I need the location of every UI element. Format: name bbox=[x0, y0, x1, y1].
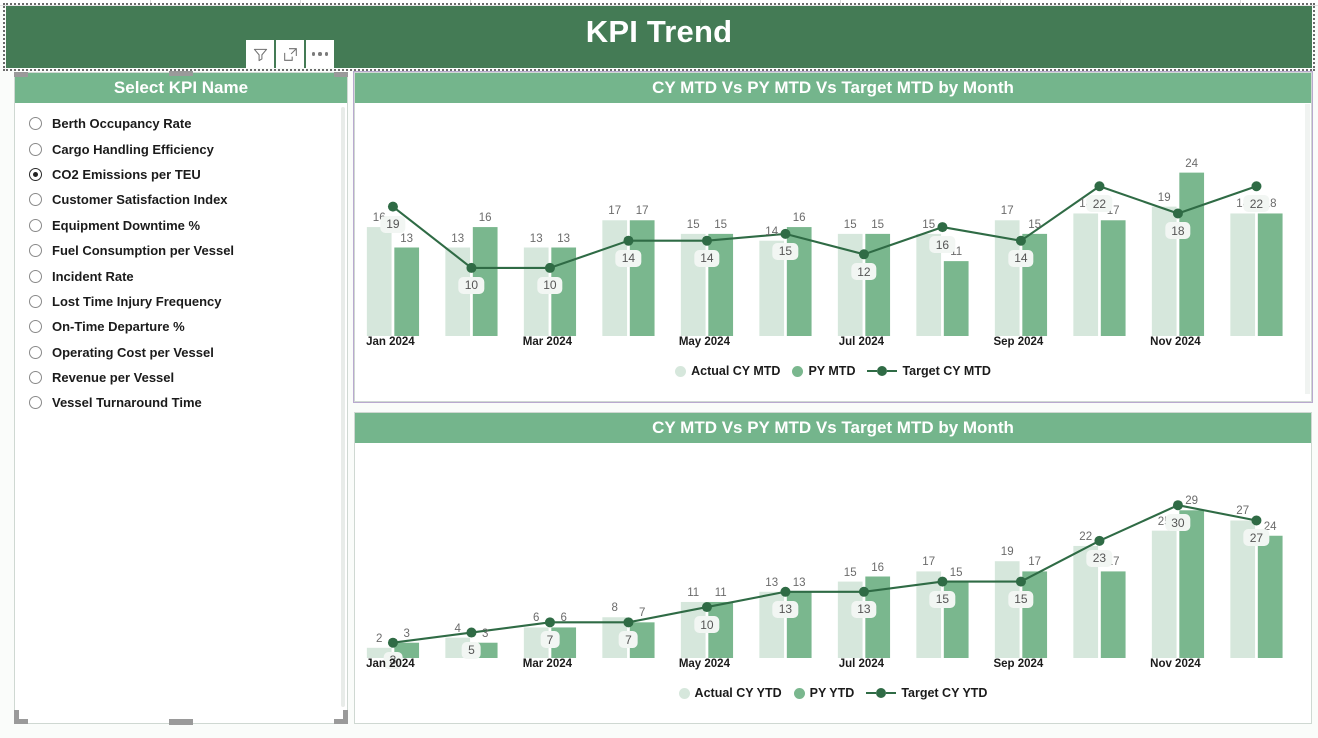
line-value-label: 23 bbox=[1087, 550, 1112, 567]
bar-value-label: 17 bbox=[1001, 205, 1014, 217]
kpi-slicer[interactable]: Select KPI Name Berth Occupancy RateCarg… bbox=[14, 72, 348, 724]
chart-svg bbox=[355, 443, 1311, 680]
bar-value-label: 15 bbox=[687, 219, 700, 231]
line-value-label: 15 bbox=[930, 591, 955, 608]
line-value-label: 14 bbox=[1008, 250, 1033, 267]
bar-value-label: 4 bbox=[455, 623, 461, 635]
bar-value-label: 8 bbox=[612, 602, 618, 614]
legend-label: PY YTD bbox=[810, 686, 855, 700]
slicer-title: Select KPI Name bbox=[15, 73, 347, 103]
slicer-resize-handle-top-right[interactable] bbox=[334, 72, 348, 77]
slicer-item[interactable]: Operating Cost per Vessel bbox=[29, 340, 347, 365]
slicer-item-label: Fuel Consumption per Vessel bbox=[52, 243, 234, 258]
filter-icon[interactable] bbox=[246, 40, 274, 68]
legend-item[interactable]: Actual CY YTD bbox=[679, 686, 782, 700]
bar-value-label: 27 bbox=[1236, 505, 1249, 517]
slicer-option-list[interactable]: Berth Occupancy RateCargo Handling Effic… bbox=[15, 103, 347, 416]
legend-item[interactable]: Target CY YTD bbox=[866, 686, 987, 700]
bar-value-label: 15 bbox=[1028, 219, 1041, 231]
slicer-resize-handle-left-bottom[interactable] bbox=[14, 710, 19, 724]
legend-label: Target CY MTD bbox=[902, 364, 990, 378]
bar-value-label: 11 bbox=[715, 587, 727, 599]
slicer-item[interactable]: Cargo Handling Efficiency bbox=[29, 136, 347, 161]
bar-value-label: 15 bbox=[714, 219, 727, 231]
slicer-item[interactable]: Lost Time Injury Frequency bbox=[29, 289, 347, 314]
bar-value-label: 15 bbox=[844, 567, 857, 579]
bar-value-label: 6 bbox=[560, 612, 566, 624]
slicer-item[interactable]: Equipment Downtime % bbox=[29, 213, 347, 238]
line-value-label: 18 bbox=[1165, 222, 1190, 239]
legend-label: Actual CY YTD bbox=[695, 686, 782, 700]
bar-value-label: 15 bbox=[871, 219, 884, 231]
x-axis-tick-label: Nov 2024 bbox=[1150, 658, 1201, 670]
legend-swatch-icon bbox=[675, 366, 686, 377]
bar-value-label: 16 bbox=[793, 212, 806, 224]
line-value-label: 19 bbox=[380, 216, 405, 233]
bar-value-label: 19 bbox=[1001, 546, 1014, 558]
slicer-item-label: Revenue per Vessel bbox=[52, 370, 174, 385]
more-options-icon[interactable] bbox=[306, 40, 334, 68]
line-value-label: 22 bbox=[1087, 195, 1112, 212]
slicer-item[interactable]: Vessel Turnaround Time bbox=[29, 390, 347, 415]
x-axis-tick-label: May 2024 bbox=[679, 336, 730, 348]
chart-plot-ytd[interactable]: 2468111315171922252733671113161517172924… bbox=[355, 443, 1311, 680]
slicer-item-label: On-Time Departure % bbox=[52, 319, 185, 334]
bar-value-label: 15 bbox=[950, 567, 963, 579]
chart-plot-mtd[interactable]: 1613131715141515171819181316131715161511… bbox=[355, 103, 1311, 358]
slicer-item[interactable]: CO2 Emissions per TEU bbox=[29, 162, 347, 187]
legend-item[interactable]: PY YTD bbox=[794, 686, 855, 700]
legend-label: PY MTD bbox=[808, 364, 855, 378]
slicer-item-label: Equipment Downtime % bbox=[52, 218, 200, 233]
x-axis-tick-label: Mar 2024 bbox=[523, 658, 572, 670]
slicer-item[interactable]: Customer Satisfaction Index bbox=[29, 187, 347, 212]
slicer-item-label: CO2 Emissions per TEU bbox=[52, 167, 201, 182]
legend-label: Target CY YTD bbox=[901, 686, 987, 700]
bar-value-label: 13 bbox=[451, 233, 464, 245]
radio-icon[interactable] bbox=[29, 270, 42, 283]
bar-value-label: 13 bbox=[793, 577, 806, 589]
radio-icon[interactable] bbox=[29, 244, 42, 257]
legend-item[interactable]: Target CY MTD bbox=[867, 364, 990, 378]
radio-icon[interactable] bbox=[29, 143, 42, 156]
radio-icon[interactable] bbox=[29, 219, 42, 232]
slicer-resize-handle-right-bottom[interactable] bbox=[343, 710, 348, 724]
line-value-label: 15 bbox=[773, 243, 798, 260]
slicer-item-label: Incident Rate bbox=[52, 269, 134, 284]
x-axis-tick-label: Jan 2024 bbox=[366, 658, 415, 670]
legend-item[interactable]: Actual CY MTD bbox=[675, 364, 780, 378]
radio-icon[interactable] bbox=[29, 193, 42, 206]
line-value-label: 5 bbox=[462, 642, 481, 659]
x-axis: Jan 2024Mar 2024May 2024Jul 2024Sep 2024… bbox=[355, 658, 1311, 680]
radio-icon[interactable] bbox=[29, 371, 42, 384]
x-axis-tick-label: Jul 2024 bbox=[839, 658, 884, 670]
slicer-item[interactable]: On-Time Departure % bbox=[29, 314, 347, 339]
page-title: KPI Trend bbox=[6, 14, 1312, 50]
bar-value-label: 17 bbox=[636, 205, 649, 217]
slicer-resize-handle-top-left[interactable] bbox=[14, 72, 28, 77]
line-value-label: 22 bbox=[1244, 195, 1269, 212]
line-value-label: 12 bbox=[851, 263, 876, 280]
bar-value-label: 19 bbox=[1158, 192, 1171, 204]
slicer-item-label: Berth Occupancy Rate bbox=[52, 116, 191, 131]
line-value-label: 13 bbox=[773, 601, 798, 618]
bar-value-label: 7 bbox=[639, 607, 645, 619]
bar-value-label: 24 bbox=[1185, 158, 1198, 170]
x-axis-tick-label: Jan 2024 bbox=[366, 336, 415, 348]
chart-scrollbar-mtd[interactable] bbox=[1305, 104, 1310, 394]
focus-mode-icon[interactable] bbox=[276, 40, 304, 68]
chart-panel-mtd[interactable]: CY MTD Vs PY MTD Vs Target MTD by Month … bbox=[354, 72, 1312, 402]
radio-icon[interactable] bbox=[29, 396, 42, 409]
radio-icon[interactable] bbox=[29, 117, 42, 130]
bar-value-label: 22 bbox=[1079, 531, 1092, 543]
x-axis-tick-label: Sep 2024 bbox=[993, 658, 1043, 670]
bar-value-label: 13 bbox=[530, 233, 543, 245]
line-value-label: 14 bbox=[616, 250, 641, 267]
chart-title-mtd: CY MTD Vs PY MTD Vs Target MTD by Month bbox=[355, 73, 1311, 103]
x-axis-tick-label: Mar 2024 bbox=[523, 336, 572, 348]
chart-legend-mtd[interactable]: Actual CY MTDPY MTDTarget CY MTD bbox=[355, 358, 1311, 384]
report-page: KPI Trend Select KPI Name Berth Occupanc… bbox=[0, 0, 1318, 738]
legend-line-marker-icon bbox=[867, 366, 897, 376]
x-axis-tick-label: Jul 2024 bbox=[839, 336, 884, 348]
slicer-item[interactable]: Incident Rate bbox=[29, 263, 347, 288]
line-value-label: 27 bbox=[1244, 529, 1269, 546]
bar-value-label: 6 bbox=[533, 612, 539, 624]
bar-value-label: 3 bbox=[482, 628, 488, 640]
slicer-item-label: Cargo Handling Efficiency bbox=[52, 142, 214, 157]
line-value-label: 7 bbox=[619, 631, 638, 648]
chart-legend-ytd[interactable]: Actual CY YTDPY YTDTarget CY YTD bbox=[355, 680, 1311, 706]
line-value-label: 16 bbox=[930, 236, 955, 253]
legend-line-marker-icon bbox=[866, 688, 896, 698]
slicer-resize-handle-bottom-center[interactable] bbox=[169, 719, 193, 725]
bar-value-label: 2 bbox=[376, 633, 382, 645]
slicer-item-label: Vessel Turnaround Time bbox=[52, 395, 202, 410]
legend-swatch-icon bbox=[794, 688, 805, 699]
bar-value-label: 13 bbox=[557, 233, 570, 245]
line-value-label: 7 bbox=[541, 631, 560, 648]
line-value-label: 13 bbox=[851, 601, 876, 618]
legend-item[interactable]: PY MTD bbox=[792, 364, 855, 378]
bar-value-label: 3 bbox=[403, 628, 409, 640]
bar-value-label: 17 bbox=[608, 205, 621, 217]
slicer-item-label: Customer Satisfaction Index bbox=[52, 192, 228, 207]
slicer-item-label: Operating Cost per Vessel bbox=[52, 345, 214, 360]
legend-label: Actual CY MTD bbox=[691, 364, 780, 378]
bar-value-label: 11 bbox=[687, 587, 699, 599]
bar-value-label: 17 bbox=[1028, 556, 1041, 568]
slicer-item[interactable]: Fuel Consumption per Vessel bbox=[29, 238, 347, 263]
bar-value-label: 13 bbox=[400, 233, 413, 245]
line-value-label: 10 bbox=[537, 277, 562, 294]
x-axis-tick-label: Nov 2024 bbox=[1150, 336, 1201, 348]
bar-value-label: 13 bbox=[765, 577, 778, 589]
bar-value-label: 16 bbox=[871, 562, 884, 574]
chart-title-ytd: CY MTD Vs PY MTD Vs Target MTD by Month bbox=[355, 413, 1311, 443]
chart-panel-ytd[interactable]: CY MTD Vs PY MTD Vs Target MTD by Month … bbox=[354, 412, 1312, 724]
bar-value-label: 15 bbox=[922, 219, 935, 231]
bar-value-label: 15 bbox=[844, 219, 857, 231]
bar-value-label: 17 bbox=[922, 556, 935, 568]
slicer-resize-handle-top-center[interactable] bbox=[169, 71, 193, 76]
slicer-scrollbar[interactable] bbox=[341, 107, 345, 707]
radio-icon[interactable] bbox=[29, 320, 42, 333]
line-value-label: 10 bbox=[694, 616, 719, 633]
bar-value-label: 16 bbox=[479, 212, 492, 224]
legend-swatch-icon bbox=[792, 366, 803, 377]
radio-icon[interactable] bbox=[29, 346, 42, 359]
x-axis-tick-label: May 2024 bbox=[679, 658, 730, 670]
line-value-label: 30 bbox=[1165, 514, 1190, 531]
legend-swatch-icon bbox=[679, 688, 690, 699]
line-value-label: 14 bbox=[694, 250, 719, 267]
radio-selected-icon[interactable] bbox=[29, 168, 42, 181]
bar-value-label: 14 bbox=[765, 226, 778, 238]
slicer-item-label: Lost Time Injury Frequency bbox=[52, 294, 222, 309]
slicer-item[interactable]: Berth Occupancy Rate bbox=[29, 111, 347, 136]
line-value-label: 15 bbox=[1008, 591, 1033, 608]
x-axis-tick-label: Sep 2024 bbox=[993, 336, 1043, 348]
slicer-item[interactable]: Revenue per Vessel bbox=[29, 365, 347, 390]
radio-icon[interactable] bbox=[29, 295, 42, 308]
line-value-label: 10 bbox=[459, 277, 484, 294]
x-axis: Jan 2024Mar 2024May 2024Jul 2024Sep 2024… bbox=[355, 336, 1311, 358]
bar-value-label: 29 bbox=[1185, 495, 1198, 507]
page-header: KPI Trend bbox=[6, 6, 1312, 68]
visual-header-toolbar[interactable] bbox=[246, 40, 334, 68]
